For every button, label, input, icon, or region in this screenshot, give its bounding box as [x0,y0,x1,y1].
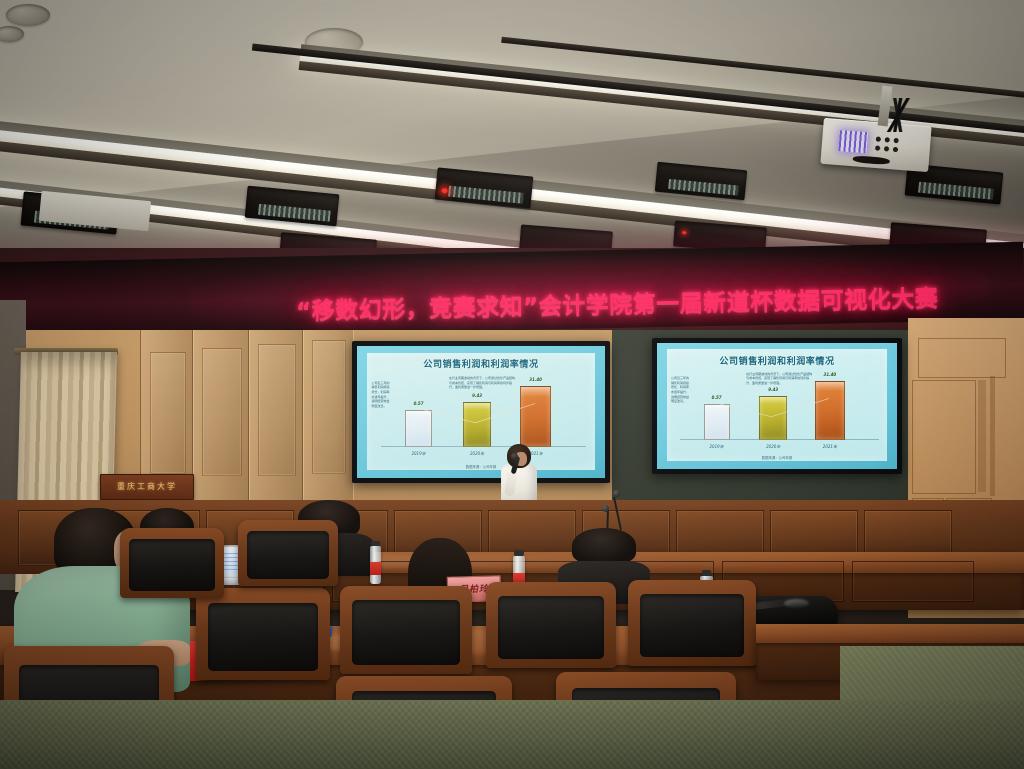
right-projection-screen: 公司销售利润和利润率情况 公司近三年的销售利润持续增长，利润率亦逐年提升，说明经… [652,338,902,474]
chair[interactable] [238,520,338,586]
projector-cables [860,98,938,132]
chair[interactable] [340,586,472,674]
chart: 0.57 2019年 9.43 2020年 31.40 2021年 [680,374,879,450]
projector-controls-icon [873,134,907,157]
slide-footnote: 数据来源：公司年报 [667,455,888,460]
projector-lens-icon [853,155,890,165]
chair[interactable] [120,528,224,598]
slide: 公司销售利润和利润率情况 公司近三年的销售利润持续增长，利润率亦逐年提升，说明经… [667,349,888,461]
venue-plaque-text: 重庆工商大学 [101,475,193,499]
carpet [0,700,1024,769]
ceiling-speaker-icon [6,4,50,26]
screen-surface: 公司销售利润和利润率情况 公司近三年的销售利润持续增长，利润率亦逐年提升，说明经… [657,343,897,469]
slide-footnote: 数据来源：公司年报 [367,464,595,469]
slide-title: 公司销售利润和利润率情况 [667,354,888,367]
microphone-head-icon [613,490,620,497]
lecture-hall-photo: “移数幻形，竞赛求知”会计学院第一届新道杯数据可视化大赛 公司销售利润和利润率情… [0,0,1024,769]
slide: 公司销售利润和利润率情况 公司近三年的销售利润持续增长，利润率亦逐年提升，说明经… [367,353,595,471]
slide-title: 公司销售利润和利润率情况 [367,357,595,370]
chair[interactable] [628,580,756,666]
projector-vent-icon [839,130,869,153]
screen-surface: 公司销售利润和利润率情况 公司近三年的销售利润持续增长，利润率亦逐年提升，说明经… [357,346,605,478]
chart: 0.57 2019年 9.43 2020年 31.40 2021年 [381,378,586,458]
venue-plaque: 重庆工商大学 [100,474,194,500]
chart-trend-line [381,378,586,458]
chair[interactable] [486,582,616,668]
water-bottle [370,546,381,584]
chart-trend-line [680,374,879,450]
microphone-head-icon [602,505,609,512]
left-projection-screen: 公司销售利润和利润率情况 公司近三年的销售利润持续增长，利润率亦逐年提升，说明经… [352,341,610,483]
ceiling-vent-box [435,167,534,208]
chair[interactable] [196,588,330,680]
ceiling [0,0,1024,268]
